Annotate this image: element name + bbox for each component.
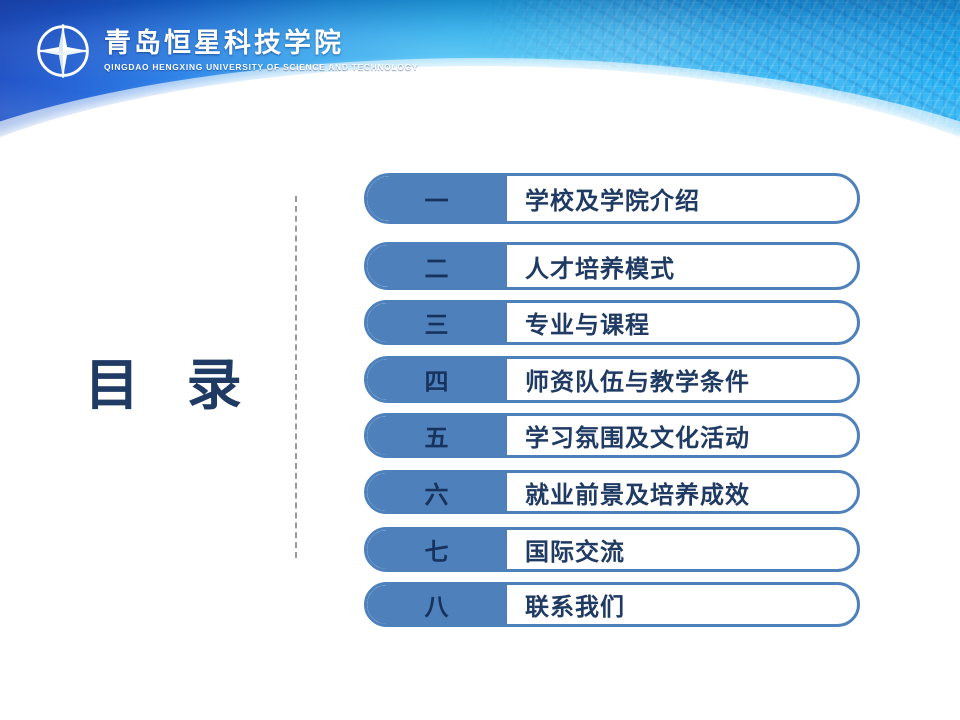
page-title: 目 录	[58, 340, 268, 420]
toc-item-7-label: 国际交流	[507, 530, 857, 569]
table-of-contents-list: 一 学校及学院介绍 二 人才培养模式 三 专业与课程 四 师资队伍与教学条件 五…	[364, 170, 864, 630]
toc-item-6-label: 就业前景及培养成效	[507, 473, 857, 511]
toc-item-8-number: 八	[367, 585, 507, 624]
toc-item-3-number: 三	[367, 303, 507, 342]
presentation-slide: 青岛恒星科技学院 QINGDAO HENGXING UNIVERSITY OF …	[0, 0, 960, 720]
toc-item-2-label: 人才培养模式	[507, 245, 857, 287]
university-logo-block: 青岛恒星科技学院 QINGDAO HENGXING UNIVERSITY OF …	[34, 22, 418, 80]
toc-item-4[interactable]: 四 师资队伍与教学条件	[364, 356, 860, 403]
toc-item-7[interactable]: 七 国际交流	[364, 527, 860, 572]
toc-item-3[interactable]: 三 专业与课程	[364, 300, 860, 345]
university-wordmark: 青岛恒星科技学院 QINGDAO HENGXING UNIVERSITY OF …	[104, 29, 418, 72]
toc-item-5[interactable]: 五 学习氛围及文化活动	[364, 413, 860, 458]
university-name-cn: 青岛恒星科技学院	[104, 29, 418, 59]
toc-item-5-number: 五	[367, 416, 507, 455]
university-name-en: QINGDAO HENGXING UNIVERSITY OF SCIENCE A…	[104, 62, 418, 73]
toc-item-5-label: 学习氛围及文化活动	[507, 416, 857, 455]
vertical-dashed-divider	[295, 196, 297, 558]
toc-item-7-number: 七	[367, 530, 507, 569]
toc-item-2-number: 二	[367, 245, 507, 287]
slide-header-banner: 青岛恒星科技学院 QINGDAO HENGXING UNIVERSITY OF …	[0, 0, 960, 150]
toc-item-4-label: 师资队伍与教学条件	[507, 359, 857, 400]
compass-star-circle-logo-icon	[34, 22, 92, 80]
toc-item-1-number: 一	[367, 176, 507, 221]
toc-item-6-number: 六	[367, 473, 507, 511]
toc-item-8[interactable]: 八 联系我们	[364, 582, 860, 627]
toc-item-1-label: 学校及学院介绍	[507, 176, 857, 221]
toc-item-6[interactable]: 六 就业前景及培养成效	[364, 470, 860, 514]
toc-item-4-number: 四	[367, 359, 507, 400]
toc-item-8-label: 联系我们	[507, 585, 857, 624]
toc-item-1[interactable]: 一 学校及学院介绍	[364, 173, 860, 224]
toc-item-2[interactable]: 二 人才培养模式	[364, 242, 860, 290]
toc-item-3-label: 专业与课程	[507, 303, 857, 342]
